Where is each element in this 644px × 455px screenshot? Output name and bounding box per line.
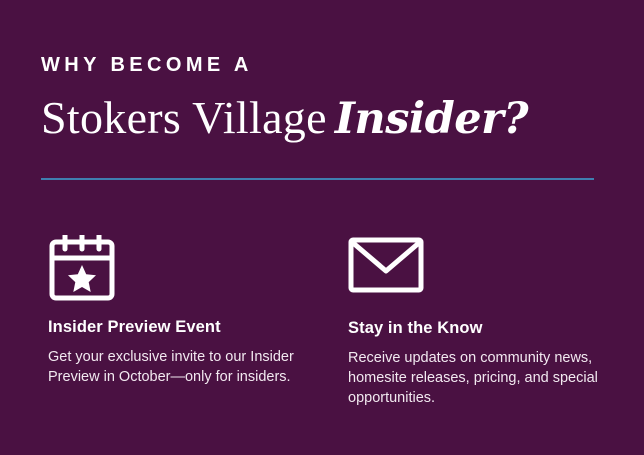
page-title: Stokers VillageInsider?	[41, 89, 528, 148]
feature-body: Get your exclusive invite to our Insider…	[48, 347, 318, 387]
envelope-icon	[348, 235, 628, 305]
eyebrow-text: WHY BECOME A	[41, 55, 253, 75]
feature-title: Stay in the Know	[348, 319, 628, 338]
divider	[41, 178, 594, 180]
feature-body: Receive updates on community news, homes…	[348, 348, 628, 408]
headline-main: Stokers Village	[41, 92, 327, 143]
headline-accent: Insider?	[335, 94, 528, 144]
feature-item-stay-in-the-know: Stay in the Know Receive updates on comm…	[348, 235, 628, 408]
promo-card: WHY BECOME A Stokers VillageInsider? Ins…	[0, 0, 644, 455]
feature-title: Insider Preview Event	[48, 318, 318, 337]
feature-item-insider-preview-event: Insider Preview Event Get your exclusive…	[48, 235, 318, 387]
calendar-star-icon	[48, 235, 318, 305]
